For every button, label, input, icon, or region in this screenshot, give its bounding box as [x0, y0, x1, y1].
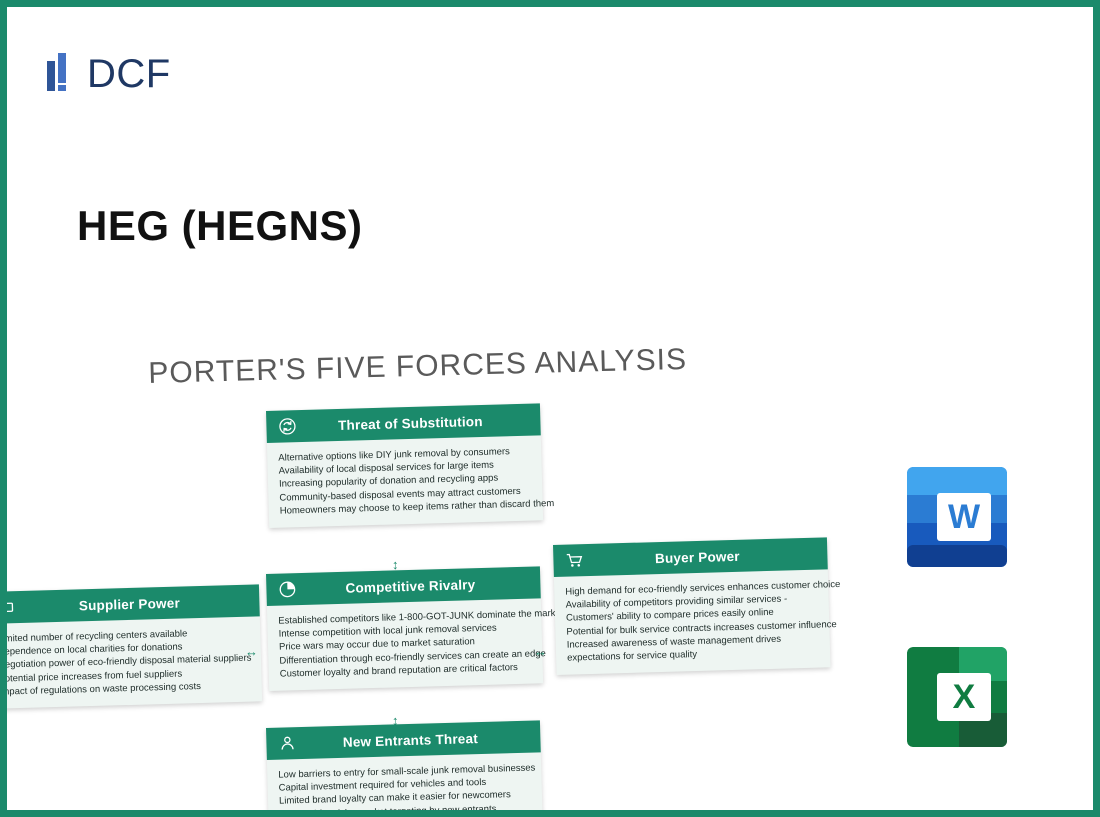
person-icon	[278, 734, 296, 752]
force-card-buyer: Buyer Power High demand for eco-friendly…	[553, 537, 831, 675]
force-card-title: New Entrants Threat	[266, 729, 540, 752]
shopping-cart-icon	[565, 551, 583, 569]
connector-arrow-right: ↔	[534, 645, 545, 658]
force-card-body: Established competitors like 1-800-GOT-J…	[267, 598, 543, 691]
force-card-title: Competitive Rivalry	[266, 575, 540, 598]
force-card-title: Buyer Power	[553, 546, 827, 569]
force-card-title: Threat of Substitution	[266, 412, 540, 435]
force-card-supplier: Supplier Power Limited number of recycli…	[0, 584, 262, 709]
screenshot-page: DCF HEG (HEGNS) PORTER'S FIVE FORCES ANA…	[0, 0, 1100, 817]
refresh-cycle-icon	[278, 417, 296, 435]
excel-spreadsheet-icon[interactable]: X	[907, 647, 1007, 747]
connector-arrow-bottom: ↕	[392, 714, 397, 727]
force-card-body: High demand for eco-friendly services en…	[554, 569, 831, 675]
connector-arrow-top: ↕	[392, 558, 397, 571]
force-card-substitution: Threat of Substitution Alternative optio…	[266, 403, 543, 528]
plug-icon	[0, 598, 16, 616]
force-card-new-entrants: New Entrants Threat Low barriers to entr…	[266, 720, 543, 817]
pie-chart-icon	[278, 580, 296, 598]
page-title: HEG (HEGNS)	[77, 202, 363, 250]
force-card-body: Limited number of recycling centers avai…	[0, 616, 262, 709]
dcf-logo[interactable]: DCF	[47, 52, 171, 97]
force-card-body: Alternative options like DIY junk remova…	[267, 435, 543, 528]
word-document-icon[interactable]: W	[907, 467, 1007, 567]
diagram-heading: PORTER'S FIVE FORCES ANALYSIS	[148, 343, 687, 391]
force-card-rivalry: Competitive Rivalry Established competit…	[266, 566, 543, 691]
dcf-bars-icon	[47, 53, 77, 97]
excel-letter: X	[937, 647, 991, 747]
word-letter: W	[937, 467, 991, 567]
force-card-body: Low barriers to entry for small-scale ju…	[267, 752, 543, 817]
logo-text: DCF	[87, 52, 171, 97]
force-card-title: Supplier Power	[0, 593, 260, 616]
connector-arrow-left: ↔	[245, 645, 256, 658]
